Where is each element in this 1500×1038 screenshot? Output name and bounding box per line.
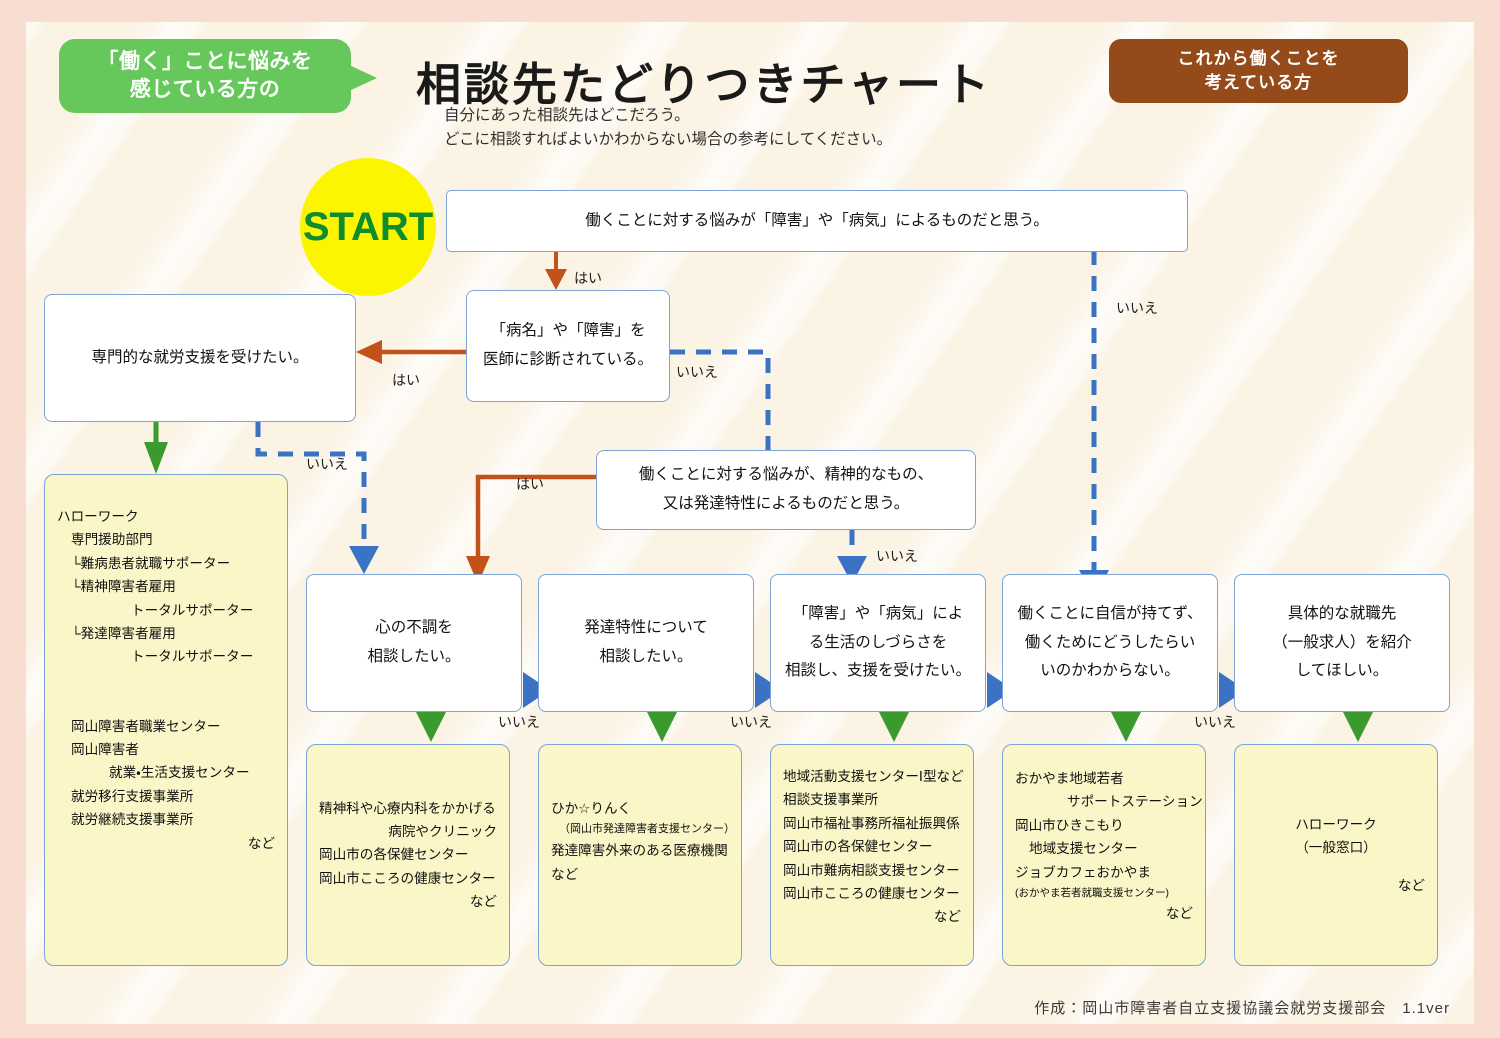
r6-line4: 地域支援センター: [1015, 837, 1193, 860]
r6-line7: など: [1015, 902, 1193, 925]
question-box-q3[interactable]: 専門的な就労支援を受けたい。: [44, 294, 356, 422]
question-box-q2[interactable]: 「病名」や「障害」を 医師に診断されている。: [466, 290, 670, 402]
question-box-q4[interactable]: 働くことに対する悩みが、精神的なもの、 又は発達特性によるものだと思う。: [596, 450, 976, 530]
q5-line2: 相談したい。: [367, 643, 460, 672]
q8-line1: 働くことに自信が持てず、: [1018, 600, 1203, 629]
q3-line1: 専門的な就労支援を受けたい。: [91, 344, 308, 373]
q9-line2: （一般求人）を紹介: [1272, 629, 1412, 658]
r6-line3: 岡山市ひきこもり: [1015, 814, 1193, 837]
q5-line1: 心の不調を: [375, 614, 453, 643]
edge-label-q8-no: いいえ: [1194, 712, 1236, 732]
r5-line1: 地域活動支援センターⅠ型など: [783, 765, 961, 788]
r4-line1: ひか☆りんく: [551, 797, 729, 820]
green-tag-line1: 「働く」ことに悩みを: [98, 48, 313, 76]
r3-line3: 岡山市の各保健センター: [319, 843, 497, 866]
r5-line2: 相談支援事業所: [783, 788, 961, 811]
r2-line3: 就業・生活支援センター: [57, 761, 275, 784]
edge-label-q3-no: いいえ: [306, 454, 348, 474]
edge-label-q2-yes: はい: [392, 370, 420, 390]
question-box-q6[interactable]: 発達特性について 相談したい。: [538, 574, 754, 712]
r6-line5: ジョブカフェおかやま: [1015, 861, 1193, 884]
r2-line5: 就労継続支援事業所: [57, 808, 275, 831]
result-box-r4: ひか☆りんく （岡山市発達障害者支援センター） 発達障害外来のある医療機関 など: [538, 744, 742, 966]
edge-label-q2-no: いいえ: [676, 362, 718, 382]
r1-line3: └難病患者就職サポーター: [57, 552, 275, 575]
r6-line6: (おかやま若者就職支援センター): [1015, 884, 1193, 902]
r2-line4: 就労移行支援事業所: [57, 785, 275, 808]
brown-tag-line2: 考えている方: [1205, 71, 1312, 95]
edge-label-q1-yes: はい: [574, 268, 602, 288]
start-label: START: [303, 205, 433, 250]
question-box-q7[interactable]: 「障害」や「病気」によ る生活のしづらさを 相談し、支援を受けたい。: [770, 574, 986, 712]
r7-line1: ハローワーク: [1247, 813, 1425, 836]
q8-line3: いのかわからない。: [1040, 657, 1180, 686]
r3-line4: 岡山市こころの健康センター: [319, 867, 497, 890]
q9-line3: してほしい。: [1296, 657, 1389, 686]
question-box-q8[interactable]: 働くことに自信が持てず、 働くためにどうしたらい いのかわからない。: [1002, 574, 1218, 712]
q1-line1: 働くことに対する悩みが「障害」や「病気」によるものだと思う。: [585, 207, 1049, 236]
r2-line2: 岡山障害者: [57, 738, 275, 761]
result-box-r6: おかやま地域若者 サポートステーション 岡山市ひきこもり 地域支援センター ジョ…: [1002, 744, 1206, 966]
r2-line6: など: [57, 832, 275, 855]
result-box-r3: 精神科や心療内科をかかげる 病院やクリニック 岡山市の各保健センター 岡山市ここ…: [306, 744, 510, 966]
question-box-q9[interactable]: 具体的な就職先 （一般求人）を紹介 してほしい。: [1234, 574, 1450, 712]
brown-audience-tag: これから働くことを 考えている方: [1109, 39, 1408, 103]
q7-line1: 「障害」や「病気」によ: [793, 600, 964, 629]
r1-line4: └精神障害者雇用: [57, 575, 275, 598]
footer-credit: 作成：岡山市障害者自立支援協議会就労支援部会 1.1ver: [1034, 997, 1450, 1018]
callout-beak-icon: [349, 65, 377, 91]
r5-line5: 岡山市難病相談支援センター: [783, 859, 961, 882]
q8-line2: 働くためにどうしたらい: [1025, 629, 1196, 658]
q7-line3: 相談し、支援を受けたい。: [785, 657, 971, 686]
r5-line6: 岡山市こころの健康センター: [783, 882, 961, 905]
r4-line3: 発達障害外来のある医療機関: [551, 839, 729, 862]
r6-line2: サポートステーション: [1015, 790, 1193, 813]
r3-line1: 精神科や心療内科をかかげる: [319, 797, 497, 820]
r6-line1: おかやま地域若者: [1015, 767, 1193, 790]
r2-line1: 岡山障害者職業センター: [57, 715, 275, 738]
r1-line2: 専門援助部門: [57, 528, 275, 551]
r1-line6: └発達障害者雇用: [57, 622, 275, 645]
page-frame: 「働く」ことに悩みを 感じている方の 相談先たどりつきチャート 自分にあった相談…: [0, 0, 1500, 1038]
result-box-r5: 地域活動支援センターⅠ型など 相談支援事業所 岡山市福祉事務所福祉振興係 岡山市…: [770, 744, 974, 966]
subtitle-line2: どこに相談すればよいかわからない場合の参考にしてください。: [444, 128, 892, 152]
q7-line2: る生活のしづらさを: [809, 629, 948, 658]
q2-line1: 「病名」や「障害」を: [490, 317, 645, 346]
r5-line7: など: [783, 905, 961, 928]
q6-line1: 発達特性について: [584, 614, 708, 643]
page-subtitle: 自分にあった相談先はどこだろう。 どこに相談すればよいかわからない場合の参考にし…: [444, 104, 892, 152]
start-node: START: [300, 158, 436, 296]
r1-spacer: [57, 669, 275, 715]
r4-line4: など: [551, 863, 729, 886]
r3-line2: 病院やクリニック: [319, 820, 497, 843]
r5-line3: 岡山市福祉事務所福祉振興係: [783, 812, 961, 835]
r7-line3: など: [1247, 860, 1425, 897]
r4-line2: （岡山市発達障害者支援センター）: [551, 820, 729, 839]
question-box-q1[interactable]: 働くことに対する悩みが「障害」や「病気」によるものだと思う。: [446, 190, 1188, 252]
chart-canvas: 「働く」ことに悩みを 感じている方の 相談先たどりつきチャート 自分にあった相談…: [26, 22, 1474, 1024]
r1-line5: トータルサポーター: [57, 599, 275, 622]
result-box-r7: ハローワーク （一般窓口） など: [1234, 744, 1438, 966]
q4-line2: 又は発達特性によるものだと思う。: [663, 490, 910, 519]
edge-label-q4-no: いいえ: [876, 546, 918, 566]
green-tag-line2: 感じている方の: [130, 76, 281, 104]
r3-line5: など: [319, 890, 497, 913]
q9-line1: 具体的な就職先: [1288, 600, 1397, 629]
r5-line4: 岡山市の各保健センター: [783, 835, 961, 858]
r1-line7: トータルサポーター: [57, 645, 275, 668]
brown-tag-line1: これから働くことを: [1178, 47, 1340, 71]
edge-label-q4-yes: はい: [516, 474, 544, 494]
q2-line2: 医師に診断されている。: [483, 346, 653, 375]
edge-label-q6-no: いいえ: [730, 712, 772, 732]
subtitle-line1: 自分にあった相談先はどこだろう。: [444, 104, 892, 128]
q6-line2: 相談したい。: [599, 643, 692, 672]
green-callout-tag: 「働く」ことに悩みを 感じている方の: [59, 39, 351, 113]
edge-label-q1-no: いいえ: [1116, 298, 1158, 318]
question-box-q5[interactable]: 心の不調を 相談したい。: [306, 574, 522, 712]
result-box-r1: ハローワーク 専門援助部門 └難病患者就職サポーター └精神障害者雇用 トータル…: [44, 474, 288, 966]
q4-line1: 働くことに対する悩みが、精神的なもの、: [639, 461, 933, 490]
r7-line2: （一般窓口）: [1247, 836, 1425, 859]
edge-label-q5-no: いいえ: [498, 712, 540, 732]
r1-line1: ハローワーク: [57, 505, 275, 528]
